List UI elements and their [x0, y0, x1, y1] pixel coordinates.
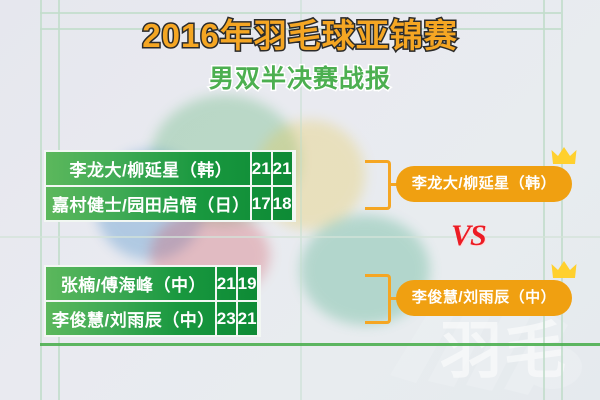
winner-pill-1[interactable]: 李龙大/柳延星（韩） — [396, 166, 572, 202]
game-1-score: 21 — [216, 266, 237, 301]
game-2-score: 18 — [272, 186, 293, 221]
team-name: 李俊慧/刘雨辰（中） — [45, 301, 216, 336]
game-1-score: 23 — [216, 301, 237, 336]
game-1-score: 17 — [251, 186, 272, 221]
game-2-score: 21 — [237, 301, 258, 336]
team-name: 嘉村健士/园田启悟（日） — [45, 186, 251, 221]
crown-icon — [551, 146, 577, 166]
table-row: 张楠/傅海峰（中） 21 19 — [45, 266, 260, 301]
court-line-bottom — [40, 343, 600, 346]
table-row: 李俊慧/刘雨辰（中） 23 21 — [45, 301, 260, 336]
game-3-score — [293, 151, 295, 186]
table-row: 嘉村健士/园田启悟（日） 17 18 — [45, 186, 295, 221]
vs-label: VS — [451, 219, 486, 253]
page-subtitle: 男双半决赛战报 — [0, 59, 600, 95]
game-1-score: 21 — [251, 151, 272, 186]
game-3-score — [293, 186, 295, 221]
winner-pill-2[interactable]: 李俊慧/刘雨辰（中） — [396, 280, 572, 316]
team-name: 张楠/傅海峰（中） — [45, 266, 216, 301]
team-name: 李龙大/柳延星（韩） — [45, 151, 251, 186]
game-3-score — [258, 266, 260, 301]
page-title: 2016年羽毛球亚锦赛 — [0, 9, 600, 57]
score-table-2: 张楠/傅海峰（中） 21 19 李俊慧/刘雨辰（中） 23 21 — [44, 265, 261, 337]
crown-icon — [551, 260, 577, 280]
game-2-score: 19 — [237, 266, 258, 301]
score-table-1: 李龙大/柳延星（韩） 21 21 嘉村健士/园田启悟（日） 17 18 — [44, 150, 296, 222]
game-3-score — [258, 301, 260, 336]
table-row: 李龙大/柳延星（韩） 21 21 — [45, 151, 295, 186]
game-2-score: 21 — [272, 151, 293, 186]
court-line-mid — [0, 236, 600, 238]
infographic-canvas: 羽毛球 2016年羽毛球亚锦赛 男双半决赛战报 李龙大/柳延星（韩） 21 21… — [0, 0, 600, 400]
